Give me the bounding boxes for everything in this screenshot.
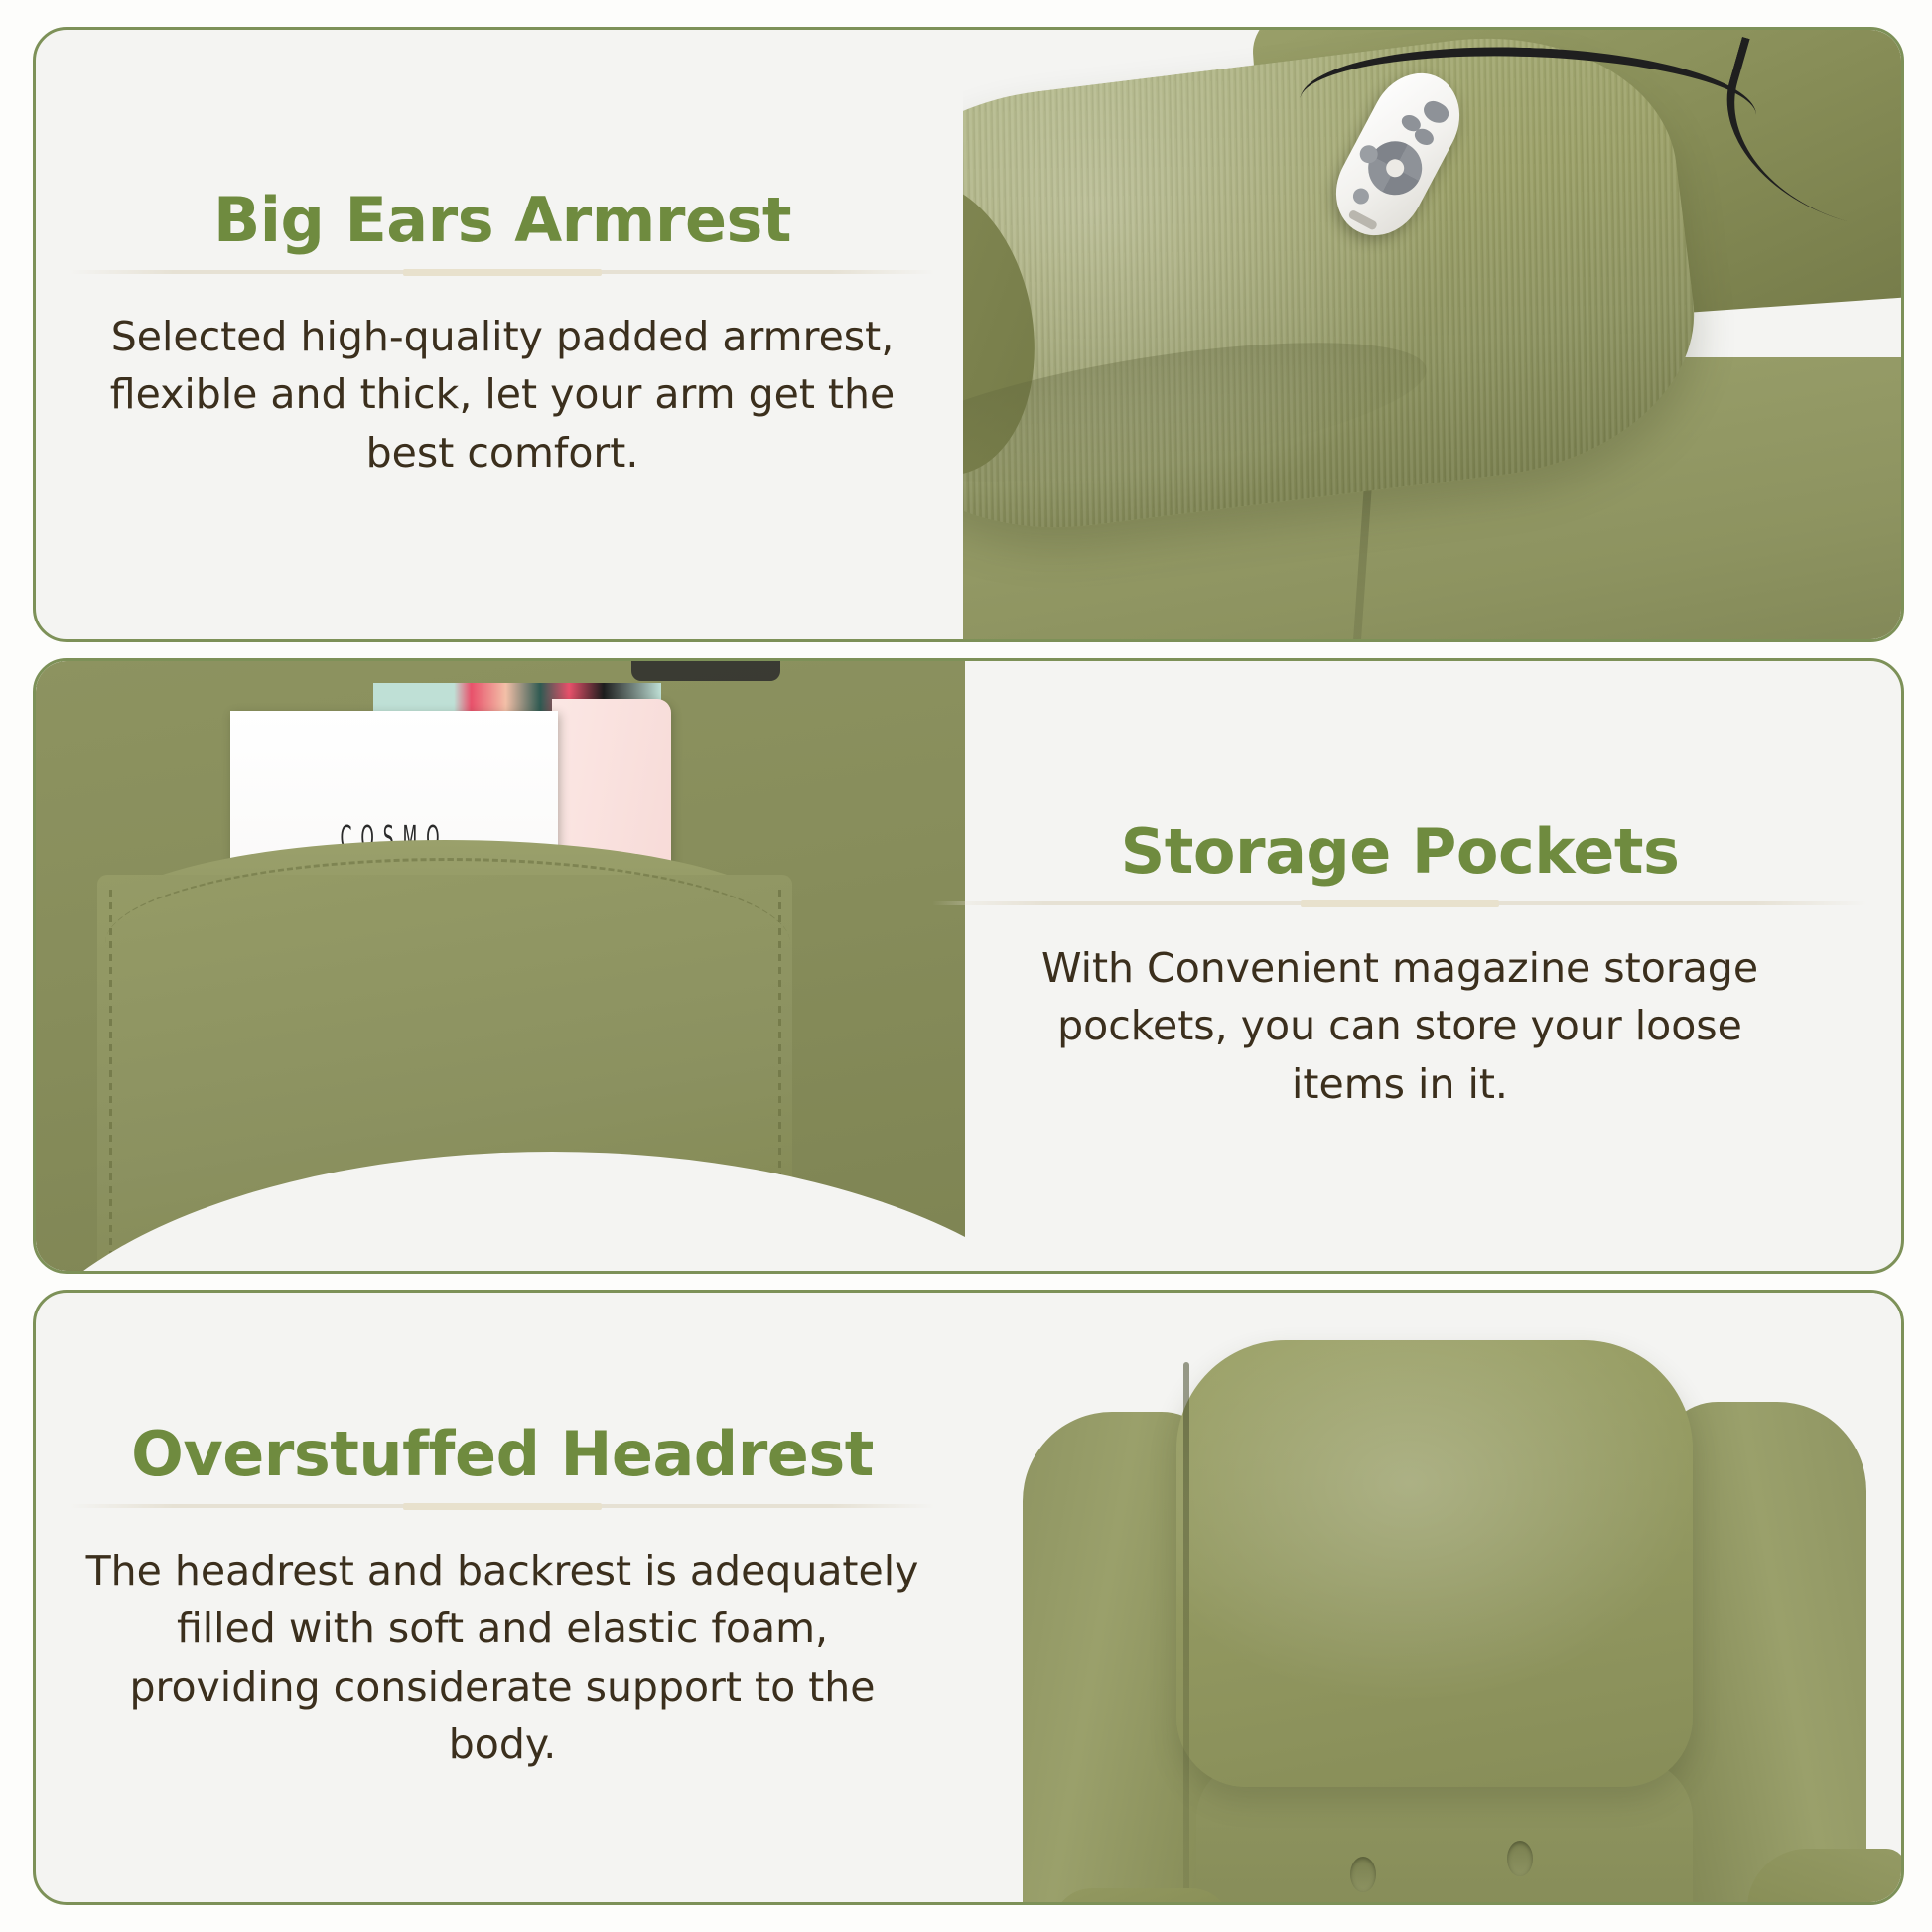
tufting-button-left	[1350, 1857, 1376, 1892]
headrest-cushion	[1176, 1340, 1693, 1787]
panel-heading: Overstuffed Headrest	[131, 1422, 874, 1486]
tufting-button-right	[1507, 1841, 1533, 1876]
feature-panel-big-ears-armrest: Big Ears Armrest Selected high-quality p…	[33, 27, 1904, 642]
left-armrest-edge	[1052, 1888, 1231, 1902]
panel-heading: Storage Pockets	[1121, 819, 1680, 884]
pocket-left-stitching	[109, 890, 112, 1271]
headrest-photo	[963, 1293, 1901, 1902]
panel-body-text: The headrest and backrest is adequately …	[75, 1542, 929, 1773]
fabric-clip	[631, 661, 780, 681]
heat-button-icon	[1420, 97, 1451, 127]
armrest-photo	[963, 30, 1901, 639]
infographic-board: Big Ears Armrest Selected high-quality p…	[0, 0, 1932, 1932]
panel-body-text: With Convenient magazine storage pockets…	[1023, 939, 1777, 1113]
headrest-seam	[1183, 1362, 1189, 1902]
remote-slot	[1347, 209, 1378, 231]
feature-panel-overstuffed-headrest: Overstuffed Headrest The headrest and ba…	[33, 1290, 1904, 1905]
heading-divider	[932, 901, 1867, 905]
panel-body-text: Selected high-quality padded armrest, fl…	[75, 308, 929, 482]
panel-heading: Big Ears Armrest	[213, 188, 791, 252]
armrest-text-block: Big Ears Armrest Selected high-quality p…	[36, 30, 969, 639]
heading-divider	[69, 1504, 935, 1508]
mode-button-icon	[1350, 186, 1372, 207]
heading-divider	[69, 270, 935, 274]
headrest-text-block: Overstuffed Headrest The headrest and ba…	[36, 1293, 969, 1902]
feature-panel-storage-pockets: COSMO YOU YOU YOU Storage Pockets With C…	[33, 658, 1904, 1274]
storage-pocket-text-block: Storage Pockets With Convenient magazine…	[898, 661, 1901, 1271]
storage-pocket-photo: COSMO YOU YOU YOU	[36, 661, 965, 1271]
